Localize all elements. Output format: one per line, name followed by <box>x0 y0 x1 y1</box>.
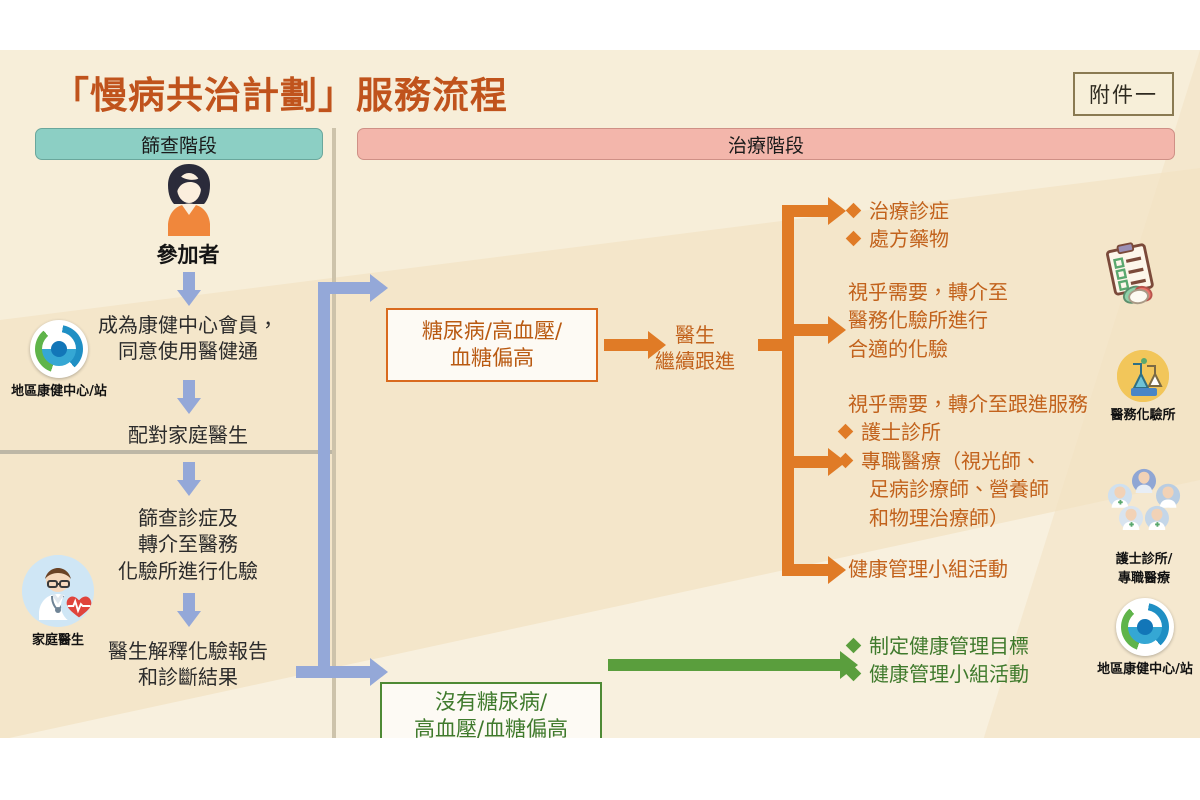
branch-2-line3: 合適的化驗 <box>848 335 1088 363</box>
icon-dhc-right: 地區康健中心/站 <box>1092 598 1198 677</box>
doctor-follow-up-line2: 繼續跟進 <box>630 348 760 374</box>
diamond-bullet-icon <box>846 203 862 219</box>
dhc-logo-icon <box>1116 598 1174 656</box>
green-arrow-to-goals <box>608 659 858 671</box>
stage-treatment-label: 治療階段 <box>728 131 804 158</box>
prescription-icon <box>1098 240 1164 306</box>
icon-medical-lab: 醫務化驗所 <box>1098 350 1188 423</box>
green-item-0: 制定健康管理目標 <box>848 632 1108 660</box>
branch-3-item-0: 護士診所 <box>840 418 1110 446</box>
diamond-bullet-icon <box>838 453 854 469</box>
screening-step-2-label: 配對家庭醫生 <box>48 422 328 448</box>
screening-step-3-line1: 篩查診症及 <box>48 505 328 531</box>
lab-icon <box>1117 350 1169 402</box>
branch-1-item-0: 治療診症 <box>848 197 1098 225</box>
icon-family-doctor: 家庭醫生 <box>6 555 110 648</box>
stage-bar-treatment: 治療階段 <box>357 128 1175 160</box>
nurse-allied-health-icon <box>1092 468 1196 542</box>
branch-4-label: 健康管理小組活動 <box>848 555 1098 583</box>
box-no-disease[interactable]: 沒有糖尿病/ 高血壓/血糖偏高 <box>380 682 602 738</box>
box-has-disease-line1: 糖尿病/高血壓/ <box>422 318 562 345</box>
family-doctor-icon <box>22 555 94 627</box>
box-has-disease[interactable]: 糖尿病/高血壓/ 血糖偏高 <box>386 308 598 382</box>
green-item-1-label: 健康管理小組活動 <box>869 660 1029 688</box>
green-item-1: 健康管理小組活動 <box>848 660 1108 688</box>
doctor-follow-up-text: 醫生 繼續跟進 <box>630 322 760 374</box>
page-title: 「慢病共治計劃」服務流程 <box>52 65 508 119</box>
arrow-down-4 <box>177 593 201 627</box>
orange-arrow-branch-1 <box>782 205 846 217</box>
orange-bracket-vertical <box>782 205 794 570</box>
branch-1-item-0-label: 治療診症 <box>869 197 949 225</box>
branch-1-item-1-label: 處方藥物 <box>869 225 949 253</box>
poster-background: 「慢病共治計劃」服務流程 附件一 篩查階段 治療階段 參加者 成為康健中心會員，… <box>0 50 1200 738</box>
icon-dhc-right-label: 地區康健中心/站 <box>1092 658 1198 677</box>
box-no-disease-line1: 沒有糖尿病/ <box>414 689 568 716</box>
phase-divider-line <box>332 128 336 738</box>
branch-3-text: 視乎需要，轉介至跟進服務 護士診所 專職醫療（視光師、 足病診療師、營養師 和物… <box>840 390 1110 532</box>
orange-arrow-branch-3 <box>782 456 846 468</box>
box-has-disease-line2: 血糖偏高 <box>422 345 562 372</box>
icon-nurse-clinic: 護士診所/ 專職醫療 <box>1092 468 1196 586</box>
branch-3-item-3: 和物理治療師） <box>869 504 1110 532</box>
icon-nurse-clinic-label-line2: 專職醫療 <box>1092 567 1196 586</box>
branch-4-text: 健康管理小組活動 <box>848 555 1098 583</box>
branch-3-item-0-label: 護士診所 <box>861 418 941 446</box>
arrow-down-2 <box>177 380 201 414</box>
branch-1-item-1: 處方藥物 <box>848 225 1098 253</box>
branch-1-items: 治療診症 處方藥物 <box>848 197 1098 254</box>
green-item-0-label: 制定健康管理目標 <box>869 632 1029 660</box>
participant-label: 參加者 <box>48 239 328 269</box>
participant-avatar-icon <box>151 160 227 236</box>
screening-step-3-line2: 轉介至醫務 <box>48 531 328 557</box>
branch-3-item-1: 專職醫療（視光師、 <box>840 447 1110 475</box>
branch-3-item-2: 足病診療師、營養師 <box>869 475 1110 503</box>
diamond-bullet-icon <box>846 231 862 247</box>
orange-arrow-branch-2 <box>782 324 846 336</box>
poster-canvas: 「慢病共治計劃」服務流程 附件一 篩查階段 治療階段 參加者 成為康健中心會員，… <box>0 0 1200 800</box>
arrow-down-1 <box>177 272 201 306</box>
screening-step-4-line2: 和診斷結果 <box>48 664 328 690</box>
icon-nurse-clinic-label-line1: 護士診所/ <box>1092 548 1196 567</box>
diamond-bullet-icon <box>838 424 854 440</box>
blue-arrow-to-disease-box <box>318 282 388 294</box>
branch-2-line1: 視乎需要，轉介至 <box>848 278 1088 306</box>
diamond-bullet-icon <box>846 666 862 682</box>
screening-step-4: 醫生解釋化驗報告 和診斷結果 <box>48 638 328 691</box>
branch-2-text: 視乎需要，轉介至 醫務化驗所進行 合適的化驗 <box>848 278 1088 363</box>
screening-step-4-line1: 醫生解釋化驗報告 <box>48 638 328 664</box>
green-items: 制定健康管理目標 健康管理小組活動 <box>848 632 1108 689</box>
attachment-badge: 附件一 <box>1073 72 1174 116</box>
icon-dhc-left: 地區康健中心/站 <box>5 320 113 399</box>
orange-arrow-branch-4 <box>782 564 846 576</box>
branch-3-item-1-label: 專職醫療（視光師、 <box>861 447 1041 475</box>
dhc-logo-icon <box>30 320 88 378</box>
icon-medical-lab-label: 醫務化驗所 <box>1098 404 1188 423</box>
branch-2-line2: 醫務化驗所進行 <box>848 306 1088 334</box>
blue-arrow-to-nodisease-box <box>296 666 388 678</box>
diamond-bullet-icon <box>846 638 862 654</box>
doctor-follow-up-line1: 醫生 <box>630 322 760 348</box>
section-divider-rule <box>0 450 332 454</box>
screening-step-2: 配對家庭醫生 <box>48 422 328 448</box>
box-no-disease-line2: 高血壓/血糖偏高 <box>414 716 568 738</box>
stage-screening-label: 篩查階段 <box>141 131 217 158</box>
stage-bar-screening: 篩查階段 <box>35 128 323 160</box>
arrow-down-3 <box>177 462 201 496</box>
blue-connector-vertical <box>318 282 330 678</box>
branch-3-heading: 視乎需要，轉介至跟進服務 <box>848 390 1110 418</box>
icon-dhc-left-label: 地區康健中心/站 <box>5 380 113 399</box>
